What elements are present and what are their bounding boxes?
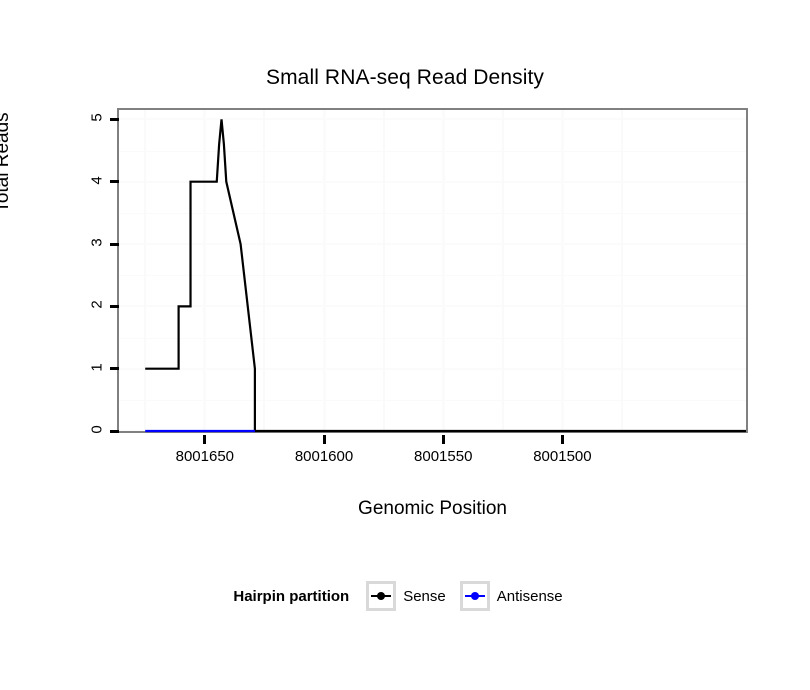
point-icon: [471, 592, 479, 600]
y-tick-label: 0: [85, 421, 109, 438]
legend-key-sense: [366, 581, 396, 611]
y-tick-mark: [110, 118, 119, 121]
series-line-sense: [145, 119, 746, 431]
page-title: Small RNA-seq Read Density: [0, 66, 810, 90]
y-tick-label: 4: [85, 172, 109, 189]
legend-entry-antisense[interactable]: Antisense: [460, 581, 563, 611]
y-tick-label: 1: [85, 359, 109, 376]
x-tick-mark: [442, 435, 445, 444]
x-tick-label: 8001500: [502, 448, 622, 465]
x-tick-mark: [203, 435, 206, 444]
x-tick-label: 8001650: [145, 448, 265, 465]
y-tick-label: 3: [85, 234, 109, 251]
y-tick-mark: [110, 367, 119, 370]
y-tick-mark: [110, 243, 119, 246]
y-tick-mark: [110, 430, 119, 433]
x-tick-label: 8001600: [264, 448, 384, 465]
y-tick-label: 5: [85, 109, 109, 126]
y-tick-mark: [110, 180, 119, 183]
plot-panel: 0123458001650800160080015508001500: [117, 108, 748, 433]
point-icon: [377, 592, 385, 600]
x-tick-mark: [323, 435, 326, 444]
x-axis-title: Genomic Position: [117, 498, 748, 520]
legend-title: Hairpin partition: [233, 588, 349, 605]
legend-entry-sense[interactable]: Sense: [366, 581, 446, 611]
legend-label-antisense: Antisense: [497, 588, 563, 605]
legend-label-sense: Sense: [403, 588, 446, 605]
legend: Hairpin partition Sense Antisense: [0, 581, 810, 611]
y-tick-label: 2: [85, 296, 109, 313]
legend-key-antisense: [460, 581, 490, 611]
y-tick-mark: [110, 305, 119, 308]
data-layer: [119, 110, 746, 431]
chart-page: Small RNA-seq Read Density Total Reads 0…: [0, 0, 810, 690]
x-tick-mark: [561, 435, 564, 444]
x-tick-label: 8001550: [383, 448, 503, 465]
y-axis-title-text: Total Reads: [0, 0, 14, 325]
